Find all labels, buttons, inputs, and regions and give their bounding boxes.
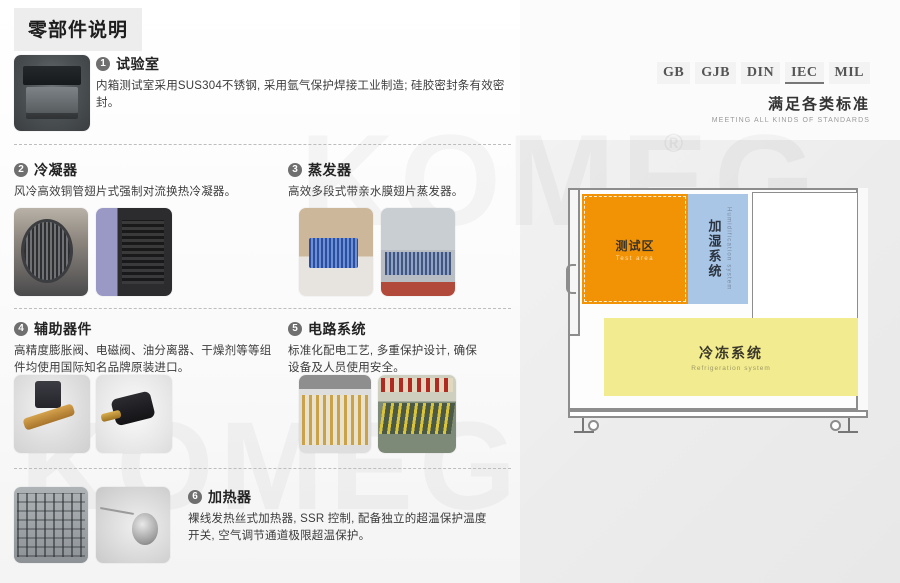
section-4-body: 高精度膨胀阀、电磁阀、油分离器、干燥剂等等组件均使用国际知名品牌原装进口。 <box>14 343 272 376</box>
diagram-base-frame <box>568 410 868 418</box>
section-4-image-expansion-valve-photo <box>14 375 90 453</box>
section-2-body: 风冷高效铜管翅片式强制对流换热冷凝器。 <box>14 184 264 201</box>
diagram-zone-humidification: 加湿系统 Humidification system <box>688 194 748 304</box>
diagram-caster-right <box>828 418 858 436</box>
section-5-image-wiring-terminal-photo <box>299 375 371 453</box>
section-1-title: 试验室 <box>116 54 160 74</box>
standard-badge-gjb: GJB <box>695 62 736 84</box>
section-5-body: 标准化配电工艺, 多重保护设计, 确保设备及人员使用安全。 <box>288 343 488 376</box>
section-1: 1 试验室 内箱测试室采用SUS304不锈钢, 采用氩气保护焊接工业制造; 硅胶… <box>96 54 516 111</box>
page-root: KOMEG ® KOMEG 零部件说明 GB GJB DIN IEC MIL 满… <box>0 0 900 583</box>
section-2-image-condenser-cabinet-photo <box>96 208 172 296</box>
diagram-caster-left-wheel <box>588 420 599 431</box>
diagram-zone-humidification-label-cn: 加湿系统 <box>705 219 724 279</box>
watermark-registered-mark: ® <box>664 128 683 159</box>
section-3-header: 3 蒸发器 <box>288 160 528 180</box>
components-column: 1 试验室 内箱测试室采用SUS304不锈钢, 采用氩气保护焊接工业制造; 硅胶… <box>0 0 530 583</box>
section-3-number: 3 <box>288 163 302 177</box>
section-5-image-control-panel-photo <box>378 375 456 453</box>
diagram-door-handle <box>566 264 576 294</box>
section-1-body: 内箱测试室采用SUS304不锈钢, 采用氩气保护焊接工业制造; 硅胶密封条有效密… <box>96 78 516 111</box>
section-2-image-condenser-coil-photo <box>14 208 88 296</box>
section-6-image-heater-coil-photo <box>14 487 88 563</box>
standards-caption-en: MEETING ALL KINDS OF STANDARDS <box>657 117 870 124</box>
section-3-body: 高效多段式带亲水膜翅片蒸发器。 <box>288 184 528 201</box>
diagram-zone-refrigeration-label-cn: 冷冻系统 <box>699 343 763 363</box>
divider-2 <box>14 308 511 309</box>
diagram-zone-test-label-cn: 测试区 <box>615 237 654 254</box>
section-1-number: 1 <box>96 57 110 71</box>
section-6-title: 加热器 <box>208 487 252 507</box>
diagram-caster-right-foot <box>838 431 858 433</box>
standards-badge-row: GB GJB DIN IEC MIL <box>657 62 870 84</box>
section-6-number: 6 <box>188 490 202 504</box>
standards-block: GB GJB DIN IEC MIL 满足各类标准 MEETING ALL KI… <box>657 62 870 124</box>
section-2-header: 2 冷凝器 <box>14 160 264 180</box>
section-2: 2 冷凝器 风冷高效铜管翅片式强制对流换热冷凝器。 <box>14 160 264 201</box>
section-3-image-evaporator-module-photo <box>299 208 373 296</box>
diagram-caster-left-post <box>582 418 584 432</box>
section-5-header: 5 电路系统 <box>288 319 488 339</box>
divider-3 <box>14 468 511 469</box>
section-5-title: 电路系统 <box>308 319 366 339</box>
section-4-image-filter-drier-photo <box>96 375 172 453</box>
diagram-inner-compartment <box>752 192 858 320</box>
diagram-zone-refrigeration-label-en: Refrigeration system <box>691 365 771 372</box>
section-4-header: 4 辅助器件 <box>14 319 272 339</box>
section-3-title: 蒸发器 <box>308 160 352 180</box>
section-4-number: 4 <box>14 322 28 336</box>
diagram-zone-humidification-label-en: Humidification system <box>726 207 732 291</box>
diagram-caster-left <box>574 418 604 436</box>
section-3-image-evaporator-installed-photo <box>381 208 455 296</box>
diagram-door-frame <box>568 188 580 336</box>
section-6-header: 6 加热器 <box>188 487 488 507</box>
section-4-title: 辅助器件 <box>34 319 92 339</box>
section-5-number: 5 <box>288 322 302 336</box>
section-2-title: 冷凝器 <box>34 160 78 180</box>
section-4: 4 辅助器件 高精度膨胀阀、电磁阀、油分离器、干燥剂等等组件均使用国际知名品牌原… <box>14 319 272 376</box>
standard-badge-din: DIN <box>741 62 780 84</box>
diagram-caster-right-wheel <box>830 420 841 431</box>
diagram-zone-test-area: 测试区 Test area <box>582 194 688 304</box>
standard-badge-iec: IEC <box>785 62 823 84</box>
section-2-number: 2 <box>14 163 28 177</box>
section-6-body: 裸线发热丝式加热器, SSR 控制, 配备独立的超温保护温度开关, 空气调节通道… <box>188 511 488 544</box>
section-6: 6 加热器 裸线发热丝式加热器, SSR 控制, 配备独立的超温保护温度开关, … <box>188 487 488 544</box>
divider-1 <box>14 144 511 145</box>
chamber-cutaway-diagram: 测试区 Test area 加湿系统 Humidification system… <box>560 170 890 438</box>
standard-badge-mil: MIL <box>829 62 871 84</box>
section-3: 3 蒸发器 高效多段式带亲水膜翅片蒸发器。 <box>288 160 528 201</box>
diagram-zone-refrigeration: 冷冻系统 Refrigeration system <box>604 318 858 396</box>
section-6-image-thermostat-probe-photo <box>96 487 170 563</box>
standards-caption-cn: 满足各类标准 <box>657 93 870 114</box>
section-1-header: 1 试验室 <box>96 54 516 74</box>
section-1-image-chamber-interior-photo <box>14 55 90 131</box>
diagram-caster-left-foot <box>574 431 594 433</box>
standard-badge-gb: GB <box>657 62 690 84</box>
section-5: 5 电路系统 标准化配电工艺, 多重保护设计, 确保设备及人员使用安全。 <box>288 319 488 376</box>
diagram-caster-right-post <box>848 418 850 432</box>
diagram-zone-test-label-en: Test area <box>616 256 654 262</box>
